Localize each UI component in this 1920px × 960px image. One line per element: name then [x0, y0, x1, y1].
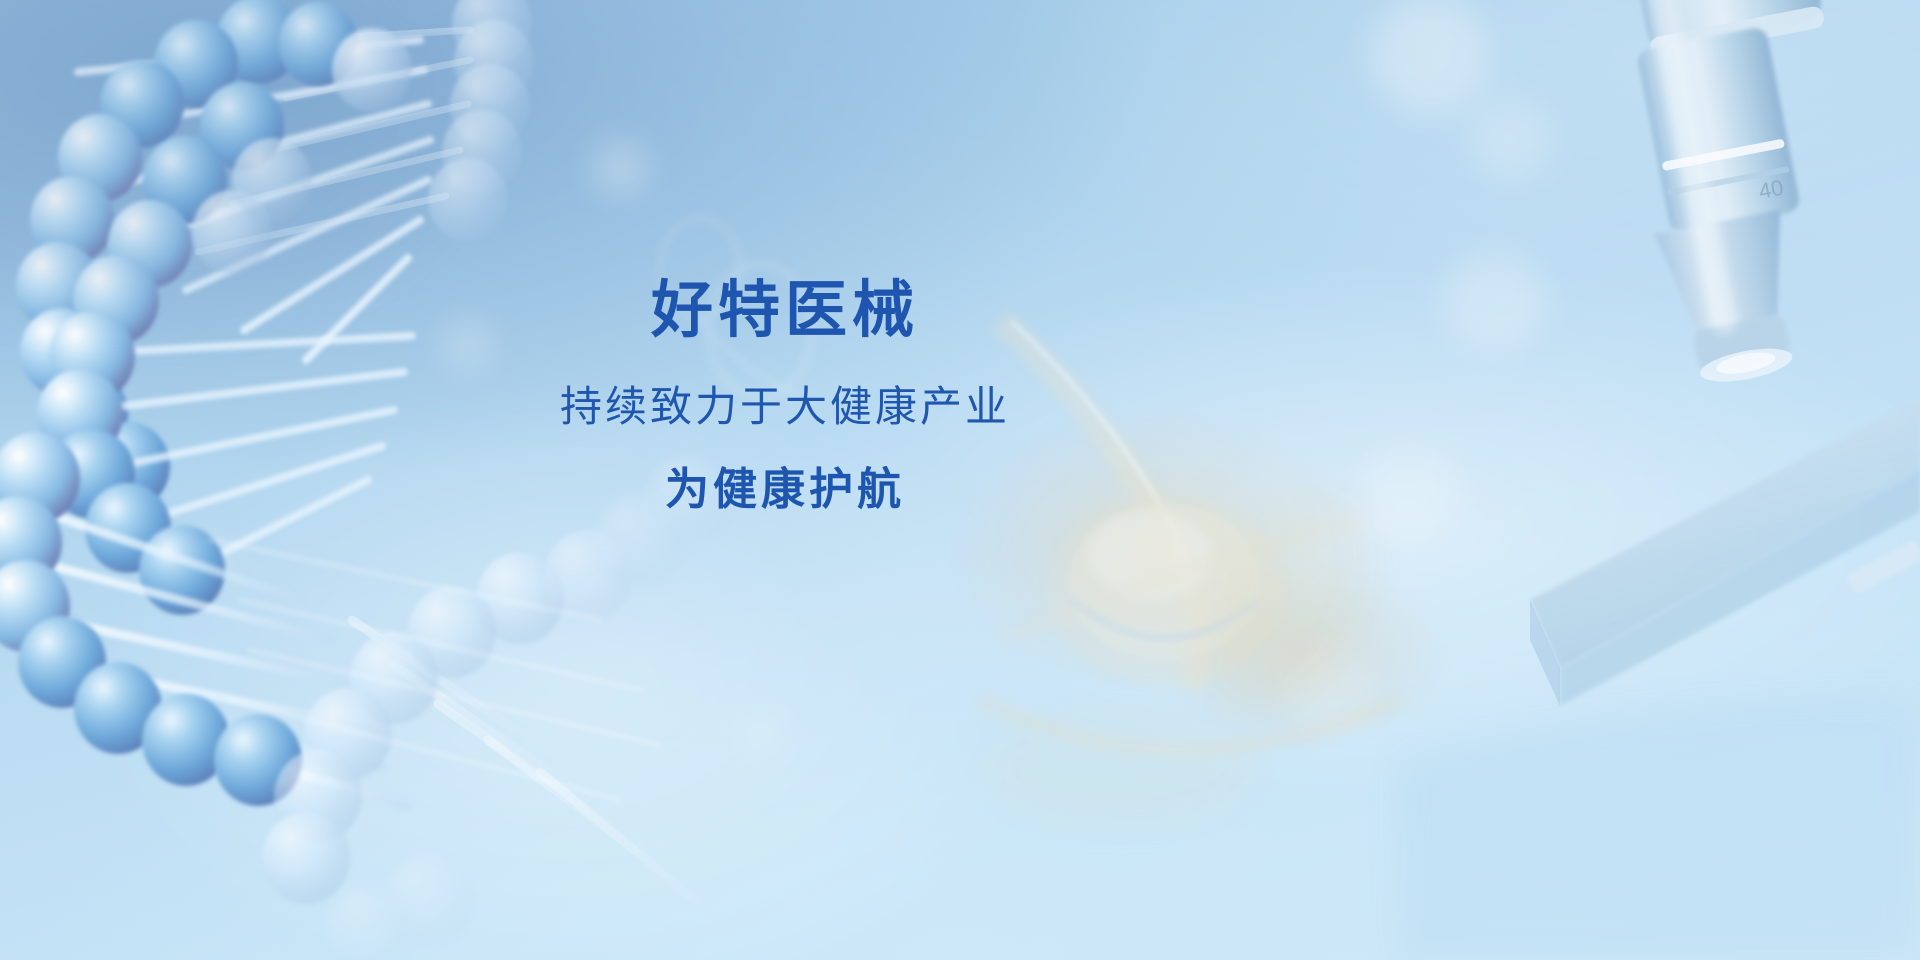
page-slogan: 为健康护航	[430, 465, 1140, 514]
hero-banner: 40	[0, 0, 1920, 960]
page-title: 好特医械	[430, 278, 1140, 345]
hero-text-block: 好特医械 持续致力于大健康产业 为健康护航	[430, 278, 1140, 515]
page-subtitle: 持续致力于大健康产业	[430, 383, 1140, 431]
